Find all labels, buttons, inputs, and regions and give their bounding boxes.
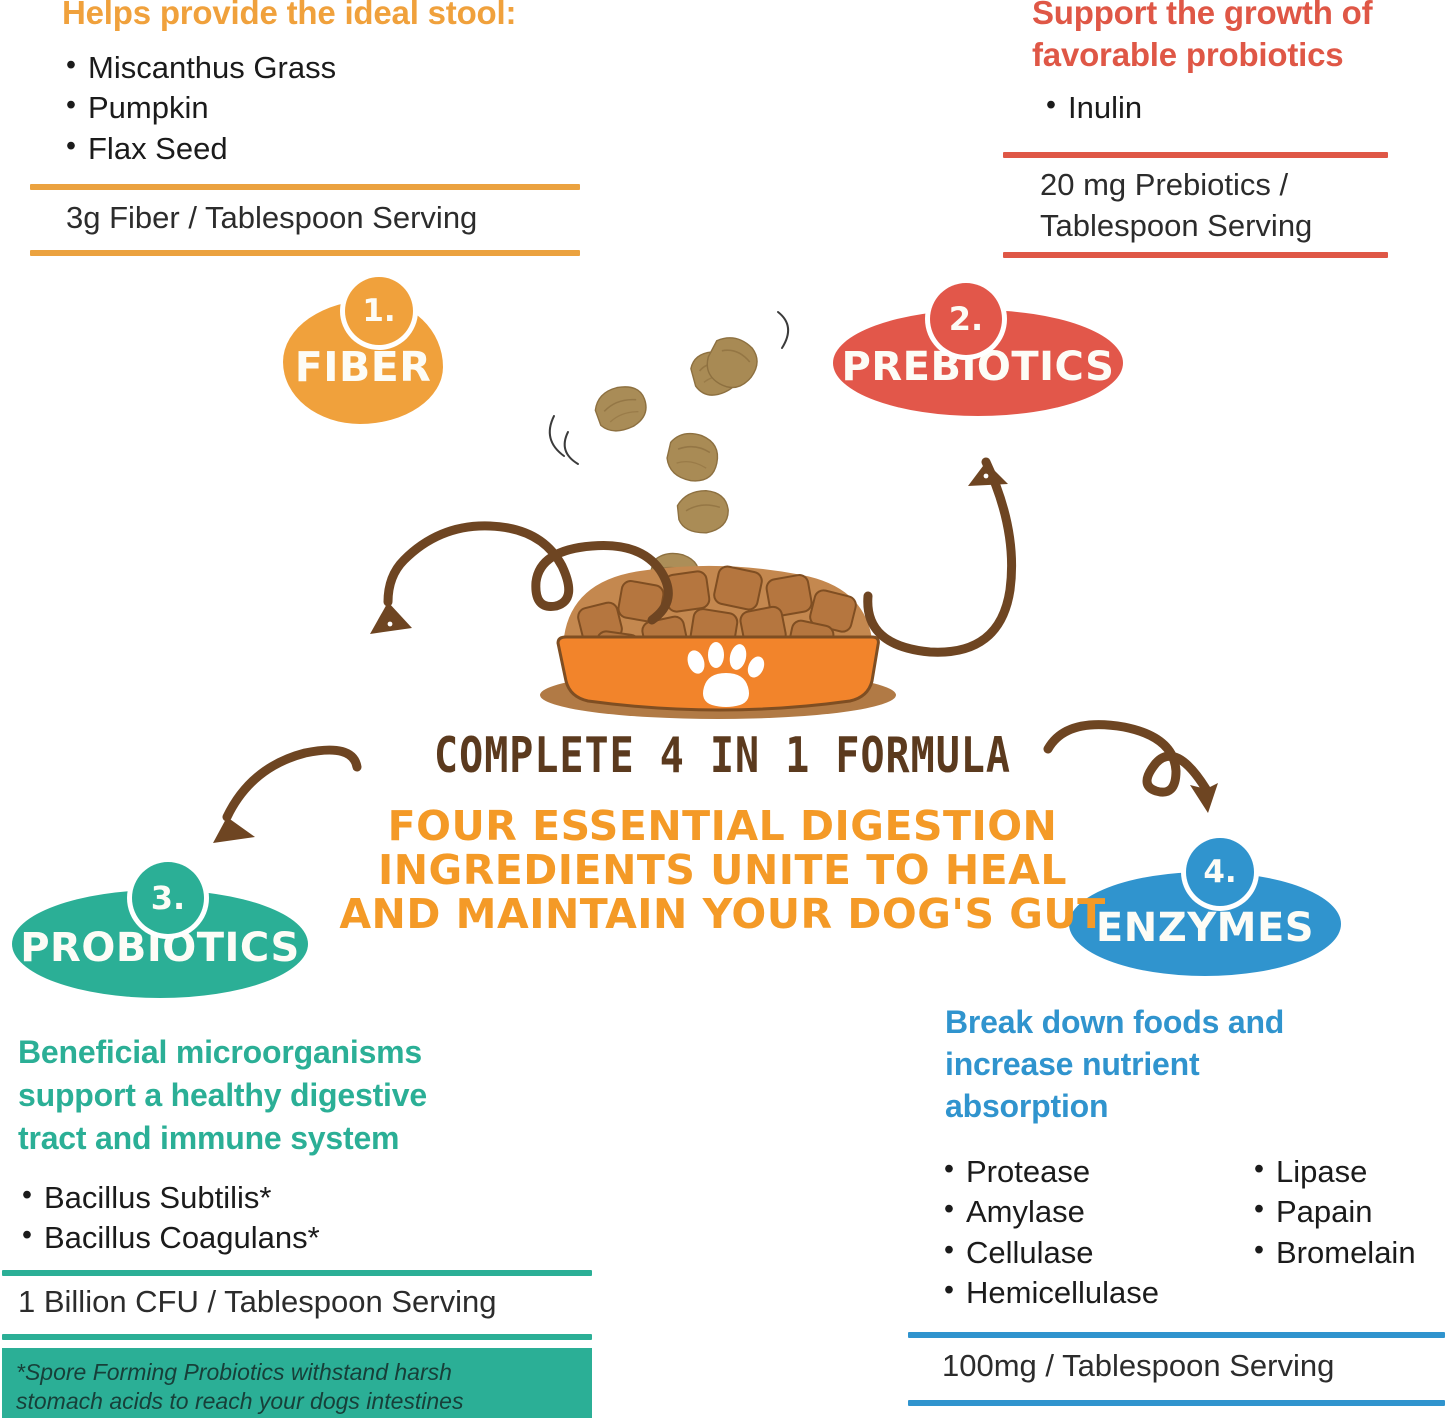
list-item: Protease (940, 1152, 1159, 1192)
probiotics-rule-bottom (2, 1334, 592, 1340)
badge-fiber-label: FIBER (295, 347, 432, 388)
enzymes-heading-line2: increase nutrient (945, 1046, 1199, 1082)
enzymes-rule-bottom (908, 1400, 1445, 1406)
probiotics-footnote-line2: stomach acids to reach your dogs intesti… (16, 1387, 580, 1416)
prebiotics-rule-bottom (1003, 252, 1388, 258)
list-item: Hemicellulase (940, 1273, 1159, 1313)
list-item: Pumpkin (62, 88, 336, 128)
probiotics-footnote: *Spore Forming Probiotics withstand hars… (2, 1348, 592, 1418)
badge-enzymes-number: 4. (1186, 838, 1254, 906)
prebiotics-serving-line2: Tablespoon Serving (1040, 208, 1312, 245)
fiber-rule-bottom (30, 250, 580, 256)
probiotics-heading-line3: tract and immune system (18, 1120, 399, 1156)
list-item: Flax Seed (62, 129, 336, 169)
list-item: Inulin (1042, 88, 1142, 128)
list-item: Amylase (940, 1192, 1159, 1232)
infographic-canvas: Helps provide the ideal stool: Miscanthu… (0, 0, 1445, 1418)
list-item: Papain (1250, 1192, 1416, 1232)
formula-title: COMPLETE 4 IN 1 FORMULA (0, 728, 1445, 784)
enzymes-rule-top (908, 1332, 1445, 1338)
badge-fiber-number: 1. (345, 277, 413, 345)
probiotics-footnote-line1: *Spore Forming Probiotics withstand hars… (16, 1358, 580, 1387)
enzymes-ingredient-list-col1: Protease Amylase Cellulase Hemicellulase (940, 1152, 1159, 1313)
prebiotics-heading-line1: Support the growth of (1032, 0, 1372, 32)
list-item: Bacillus Coagulans* (18, 1218, 320, 1258)
badge-prebiotics-number: 2. (930, 283, 1002, 355)
badge-probiotics-label: PROBIOTICS (20, 928, 300, 968)
fiber-heading: Helps provide the ideal stool: (62, 0, 516, 32)
fiber-rule-top (30, 184, 580, 190)
enzymes-heading-line3: absorption (945, 1088, 1108, 1124)
enzymes-serving: 100mg / Tablespoon Serving (942, 1348, 1334, 1385)
arrow-to-fiber (340, 420, 680, 640)
probiotics-ingredient-list: Bacillus Subtilis* Bacillus Coagulans* (18, 1178, 320, 1259)
list-item: Bromelain (1250, 1233, 1416, 1273)
prebiotics-serving-line1: 20 mg Prebiotics / (1040, 167, 1288, 204)
fiber-serving: 3g Fiber / Tablespoon Serving (66, 200, 606, 237)
list-item: Miscanthus Grass (62, 48, 336, 88)
probiotics-heading-line1: Beneficial microorganisms (18, 1034, 422, 1070)
badge-enzymes-label: ENZYMES (1096, 908, 1314, 948)
list-item: Bacillus Subtilis* (18, 1178, 320, 1218)
probiotics-serving: 1 Billion CFU / Tablespoon Serving (18, 1284, 496, 1321)
badge-prebiotics-label: PREBIOTICS (842, 347, 1115, 387)
prebiotics-heading-line2: favorable probiotics (1032, 36, 1343, 74)
enzymes-ingredient-list-col2: Lipase Papain Bromelain (1250, 1152, 1416, 1273)
prebiotics-rule-top (1003, 152, 1388, 158)
list-item: Cellulase (940, 1233, 1159, 1273)
badge-probiotics-number: 3. (132, 862, 204, 934)
arrow-to-prebiotics (850, 420, 1050, 660)
fiber-ingredient-list: Miscanthus Grass Pumpkin Flax Seed (62, 48, 336, 169)
enzymes-heading-line1: Break down foods and (945, 1004, 1284, 1040)
probiotics-heading-line2: support a healthy digestive (18, 1077, 427, 1113)
list-item: Lipase (1250, 1152, 1416, 1192)
prebiotics-ingredient-list: Inulin (1042, 88, 1142, 128)
probiotics-rule-top (2, 1270, 592, 1276)
